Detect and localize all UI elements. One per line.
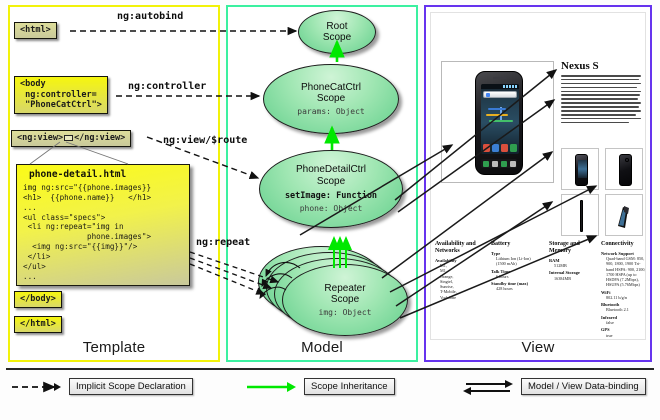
- label-ng-view-route: ng:view/$route: [163, 135, 247, 146]
- legend-label-inheritance: Scope Inheritance: [304, 378, 395, 395]
- phone-back-thumbnail[interactable]: [605, 148, 643, 190]
- tag-ngview[interactable]: <ng:view></ng:view>: [11, 130, 131, 147]
- spec-column-availability: Availability and Networks Availability M…: [435, 241, 485, 300]
- sticky-note-code: img ng:src="{{phone.images}} <h1> {{phon…: [23, 183, 185, 282]
- sticky-note-title: phone-detail.html: [29, 169, 185, 180]
- diagram-root: Template Model View: [0, 0, 660, 420]
- tag-html-close[interactable]: </html>: [14, 316, 62, 333]
- tag-body-close[interactable]: </body>: [14, 291, 62, 308]
- panel-view-label: View: [426, 339, 650, 356]
- legend-item-implicit-scope-declaration: Implicit Scope Declaration: [10, 378, 193, 395]
- scope-repeater-prop-img: img: Object: [319, 308, 372, 318]
- phone-wallpaper-lines: [484, 106, 516, 128]
- label-ng-controller: ng:controller: [128, 81, 206, 92]
- legend: Implicit Scope Declaration Scope Inherit…: [0, 366, 660, 420]
- panel-template-label: Template: [10, 339, 218, 356]
- phone-edge-thumbnail[interactable]: [561, 194, 599, 236]
- double-arrow-icon: [462, 379, 514, 395]
- legend-item-data-binding: Model / View Data-binding: [462, 378, 646, 395]
- scope-root-title: Root Scope: [323, 21, 351, 43]
- view-phone-title: Nexus S: [561, 60, 599, 72]
- phone-navigation-bar: [481, 159, 517, 168]
- phone-search-widget: [483, 91, 517, 98]
- phone-angled-glyph: [615, 202, 631, 230]
- phone-earpiece: [493, 77, 507, 79]
- scope-phonecatctrl-prop-params: params: Object: [297, 107, 364, 117]
- legend-item-scope-inheritance: Scope Inheritance: [245, 378, 395, 395]
- scope-phonecatctrl[interactable]: PhoneCatCtrl Scope params: Object: [263, 64, 399, 134]
- tag-ngview-close: </ng:view>: [74, 133, 125, 143]
- spec-column-battery: Battery Type Lithium Ion (Li-Ion) (1500 …: [491, 241, 545, 292]
- tag-body-open[interactable]: <body ng:controller= "PhoneCatCtrl">: [14, 76, 108, 114]
- scope-root[interactable]: Root Scope: [298, 10, 376, 54]
- tag-html-open[interactable]: <html>: [14, 22, 57, 39]
- view-phone-description: [561, 75, 641, 126]
- scope-phonedetailctrl-prop-setimage: setImage: Function: [285, 191, 377, 201]
- spec-column-connectivity: Connectivity Network Support Quad-band G…: [601, 241, 646, 338]
- phone-angled-thumbnail[interactable]: [605, 194, 643, 236]
- panel-model-label: Model: [228, 339, 416, 356]
- scope-repeater-title: Repeater Scope: [324, 283, 365, 305]
- scope-phonedetailctrl-prop-phone: phone: Object: [300, 204, 363, 214]
- ngview-placeholder-icon: [64, 135, 73, 141]
- legend-label-implicit: Implicit Scope Declaration: [69, 378, 193, 395]
- tag-ngview-open: <ng:view>: [17, 133, 63, 143]
- hero-image-frame: [441, 61, 554, 183]
- phone-app-icons: [483, 140, 517, 152]
- scope-phonedetailctrl[interactable]: PhoneDetailCtrl Scope setImage: Function…: [259, 150, 403, 228]
- spec-column-storage: Storage and Memory RAM 512MB Internal St…: [549, 241, 599, 281]
- phone-hero-image: [475, 71, 523, 175]
- scope-repeater[interactable]: Repeater Scope img: Object: [282, 264, 408, 336]
- view-rendered-page: Nexus S Availabil: [430, 12, 646, 340]
- legend-label-databinding: Model / View Data-binding: [521, 378, 646, 395]
- label-ng-autobind: ng:autobind: [117, 11, 183, 22]
- phone-statusbar: [481, 84, 519, 89]
- phone-front-thumbnail[interactable]: [561, 148, 599, 190]
- scope-phonecatctrl-title: PhoneCatCtrl Scope: [301, 82, 361, 104]
- label-ng-repeat: ng:repeat: [196, 237, 250, 248]
- green-arrow-icon: [245, 379, 297, 395]
- legend-divider: [6, 368, 654, 370]
- dashed-arrow-icon: [10, 379, 62, 395]
- phone-screen: [481, 84, 519, 154]
- sticky-note-phone-detail[interactable]: phone-detail.html img ng:src="{{phone.im…: [16, 164, 190, 286]
- scope-phonedetailctrl-title: PhoneDetailCtrl Scope: [296, 164, 366, 186]
